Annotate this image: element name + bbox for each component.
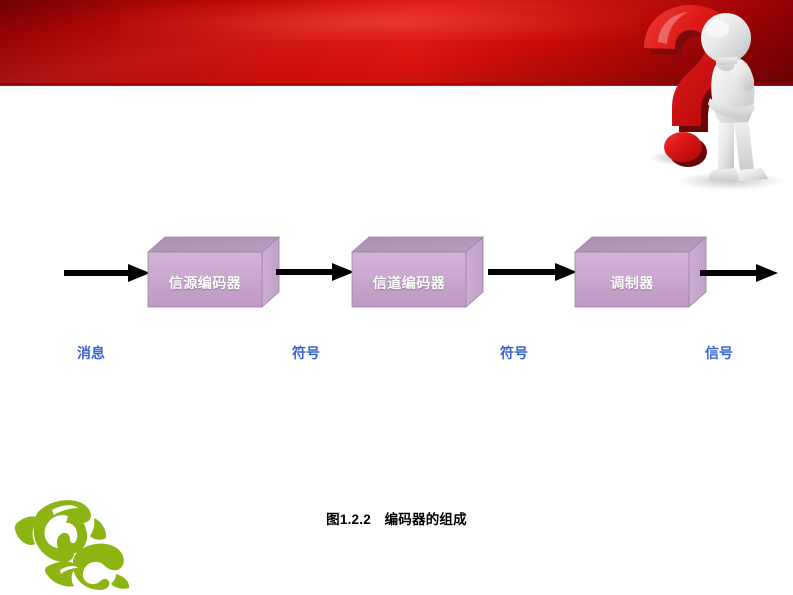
- signal-label-message: 消息: [77, 343, 105, 363]
- arrow-source-to-channel-encoder: [276, 263, 354, 281]
- figure-front-leg: [718, 116, 734, 176]
- figure-head: [701, 13, 751, 63]
- slide-canvas: 信源编码器 信道编码器 调制器 消息: [0, 0, 793, 595]
- arrow-input-to-source-encoder: [64, 264, 150, 282]
- block-modulator[interactable]: 调制器: [575, 231, 711, 317]
- block-top-face: [148, 237, 279, 252]
- figure-back-foot: [738, 168, 768, 181]
- block-top-face: [575, 237, 706, 252]
- figure-front-foot: [709, 168, 740, 181]
- block-label: 调制器: [586, 273, 678, 293]
- block-channel-encoder[interactable]: 信道编码器: [352, 231, 488, 317]
- green-chain-link-logo: [8, 488, 138, 590]
- arrow-modulator-output: [700, 264, 778, 282]
- signal-label-symbol-2: 符号: [500, 343, 528, 363]
- arrow-channel-encoder-to-modulator: [488, 263, 577, 281]
- signal-label-signal: 信号: [705, 343, 733, 363]
- question-mark-figure-artwork: [622, 0, 793, 192]
- signal-label-symbol-1: 符号: [292, 343, 320, 363]
- block-top-face: [352, 237, 483, 252]
- figure-back-leg: [734, 118, 754, 172]
- block-source-encoder[interactable]: 信源编码器: [148, 231, 284, 317]
- block-label: 信道编码器: [363, 273, 455, 293]
- block-label: 信源编码器: [159, 273, 251, 293]
- figure-head-highlight: [707, 20, 729, 38]
- figure-neck: [718, 57, 738, 65]
